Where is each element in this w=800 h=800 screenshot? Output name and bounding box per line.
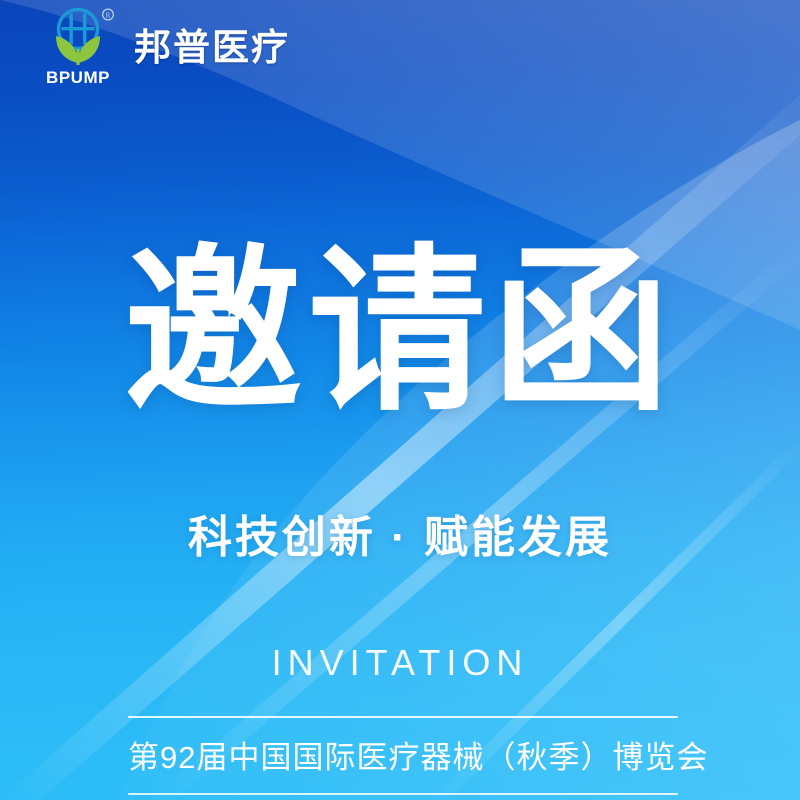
svg-text:R: R [106,11,111,19]
hero-english-label: INVITATION [0,645,800,681]
event-name: 第92届中国国际医疗器械（秋季）博览会 [128,718,678,793]
swoosh-lower-right [120,120,800,800]
divider-bottom [128,793,678,795]
bpump-globe-leaf-logo: R BPUMP [44,6,120,88]
hero-subtitle: 科技创新 · 赋能发展 [0,512,800,565]
company-name: 邦普医疗 [134,29,290,66]
invitation-poster: R BPUMP 邦普医疗 邀请函 科技创新 · 赋能发展 INVITATION … [0,0,800,800]
leaf-stem-icon [76,49,79,65]
svg-text:BPUMP: BPUMP [46,68,110,87]
page-title: 邀请函 [0,243,800,421]
brand-header: R BPUMP 邦普医疗 [44,6,290,88]
light-streak-main [0,95,800,800]
event-bar: 第92届中国国际医疗器械（秋季）博览会 [128,716,678,795]
leaf-left-icon [56,36,78,63]
registered-mark-icon: R [103,9,114,20]
leaf-right-icon [78,36,100,63]
